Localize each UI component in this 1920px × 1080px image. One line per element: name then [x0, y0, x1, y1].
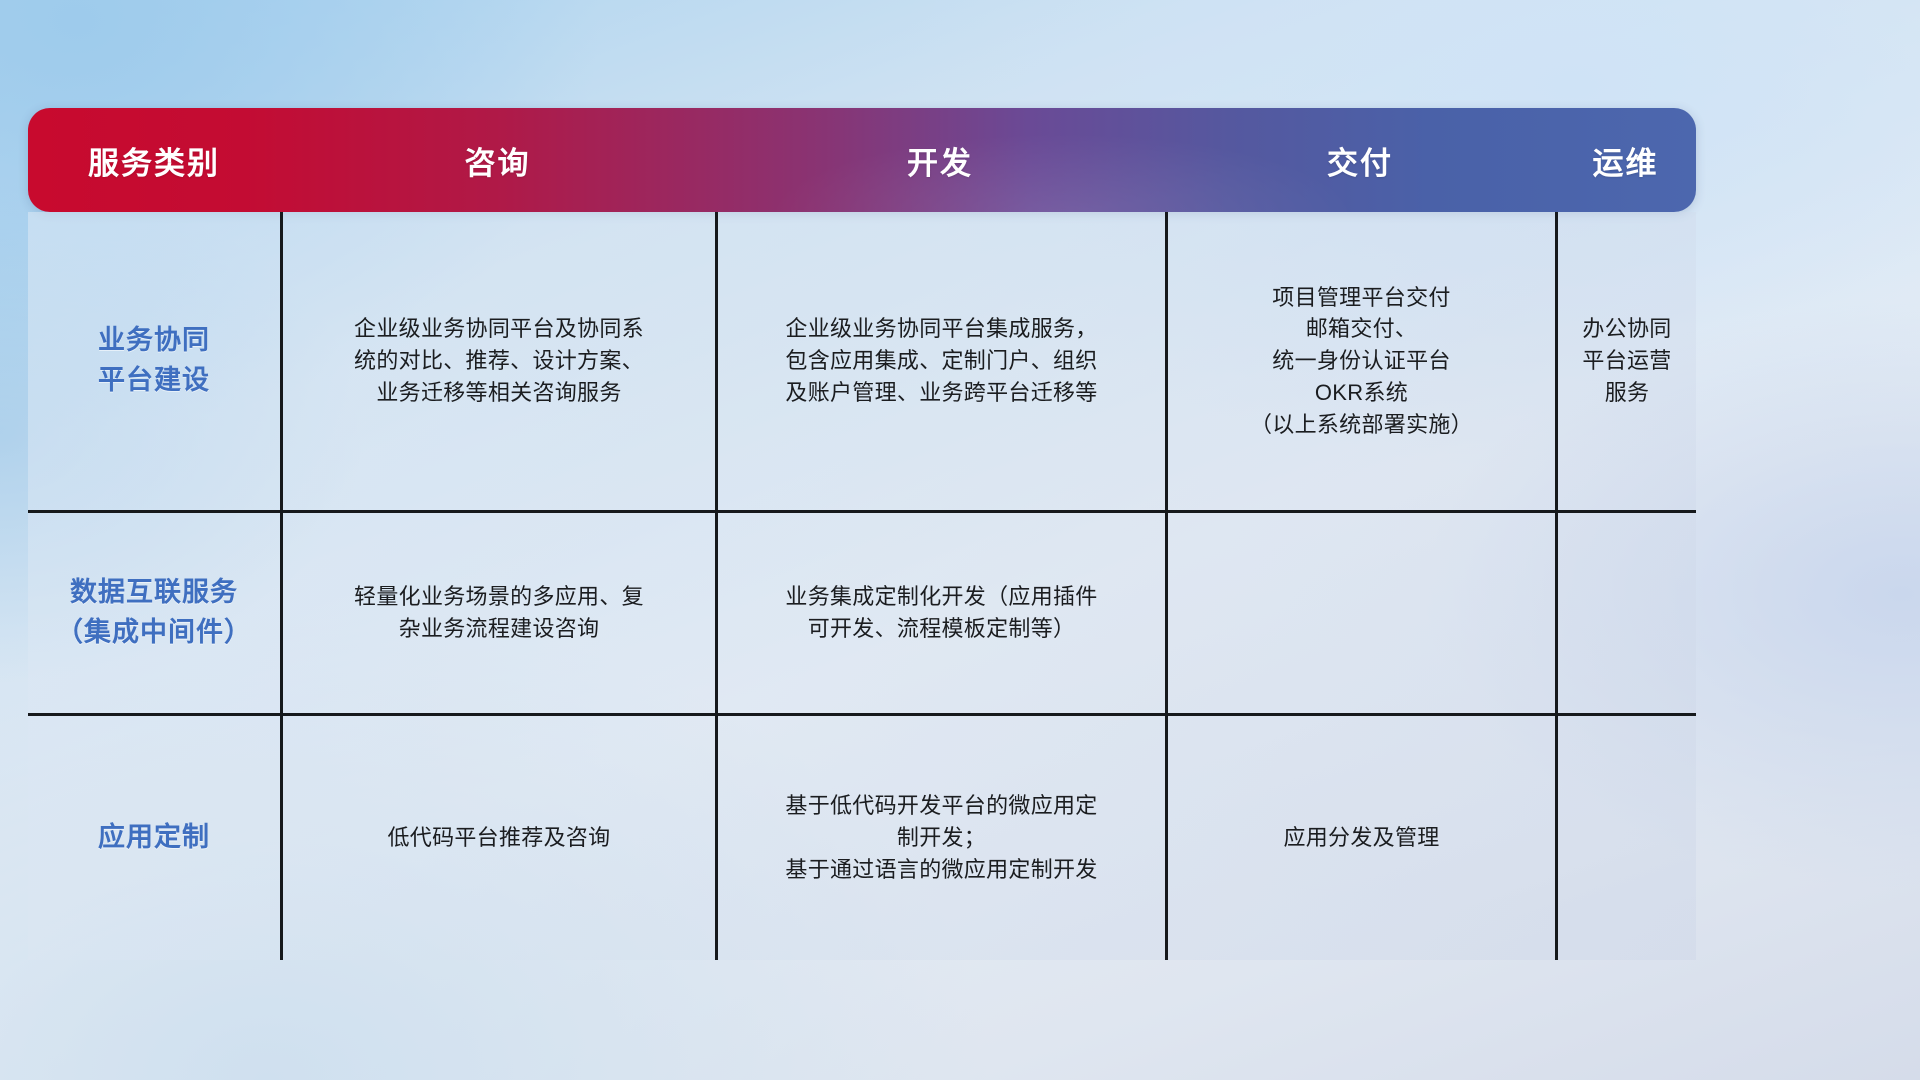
service-matrix-table: 服务类别 咨询 开发 交付 运维 业务协同 平台建设 企业级业务协同平台及协同系… [28, 108, 1696, 960]
column-header-category: 服务类别 [28, 108, 280, 212]
cell-consulting: 低代码平台推荐及咨询 [280, 716, 715, 960]
table-header-row: 服务类别 咨询 开发 交付 运维 [28, 108, 1696, 212]
cell-consulting: 企业级业务协同平台及协同系 统的对比、推荐、设计方案、 业务迁移等相关咨询服务 [280, 212, 715, 510]
column-header-operations: 运维 [1555, 108, 1696, 212]
cell-delivery [1165, 513, 1555, 713]
row-label: 数据互联服务 （集成中间件） [28, 513, 280, 713]
table-row: 数据互联服务 （集成中间件） 轻量化业务场景的多应用、复 杂业务流程建设咨询 业… [28, 510, 1696, 713]
cell-development: 业务集成定制化开发（应用插件 可开发、流程模板定制等） [715, 513, 1165, 713]
column-header-development: 开发 [715, 108, 1165, 212]
table-body: 业务协同 平台建设 企业级业务协同平台及协同系 统的对比、推荐、设计方案、 业务… [28, 212, 1696, 960]
cell-consulting: 轻量化业务场景的多应用、复 杂业务流程建设咨询 [280, 513, 715, 713]
row-label: 应用定制 [28, 716, 280, 960]
cell-operations [1555, 513, 1696, 713]
cell-operations [1555, 716, 1696, 960]
row-label: 业务协同 平台建设 [28, 212, 280, 510]
table-row: 业务协同 平台建设 企业级业务协同平台及协同系 统的对比、推荐、设计方案、 业务… [28, 212, 1696, 510]
cell-delivery: 应用分发及管理 [1165, 716, 1555, 960]
cell-delivery: 项目管理平台交付 邮箱交付、 统一身份认证平台 OKR系统 （以上系统部署实施） [1165, 212, 1555, 510]
cell-development: 企业级业务协同平台集成服务， 包含应用集成、定制门户、组织 及账户管理、业务跨平… [715, 212, 1165, 510]
cell-operations: 办公协同平台运营服务 [1555, 212, 1696, 510]
column-header-consulting: 咨询 [280, 108, 715, 212]
table-row: 应用定制 低代码平台推荐及咨询 基于低代码开发平台的微应用定 制开发； 基于通过… [28, 713, 1696, 960]
cell-development: 基于低代码开发平台的微应用定 制开发； 基于通过语言的微应用定制开发 [715, 716, 1165, 960]
column-header-delivery: 交付 [1165, 108, 1555, 212]
